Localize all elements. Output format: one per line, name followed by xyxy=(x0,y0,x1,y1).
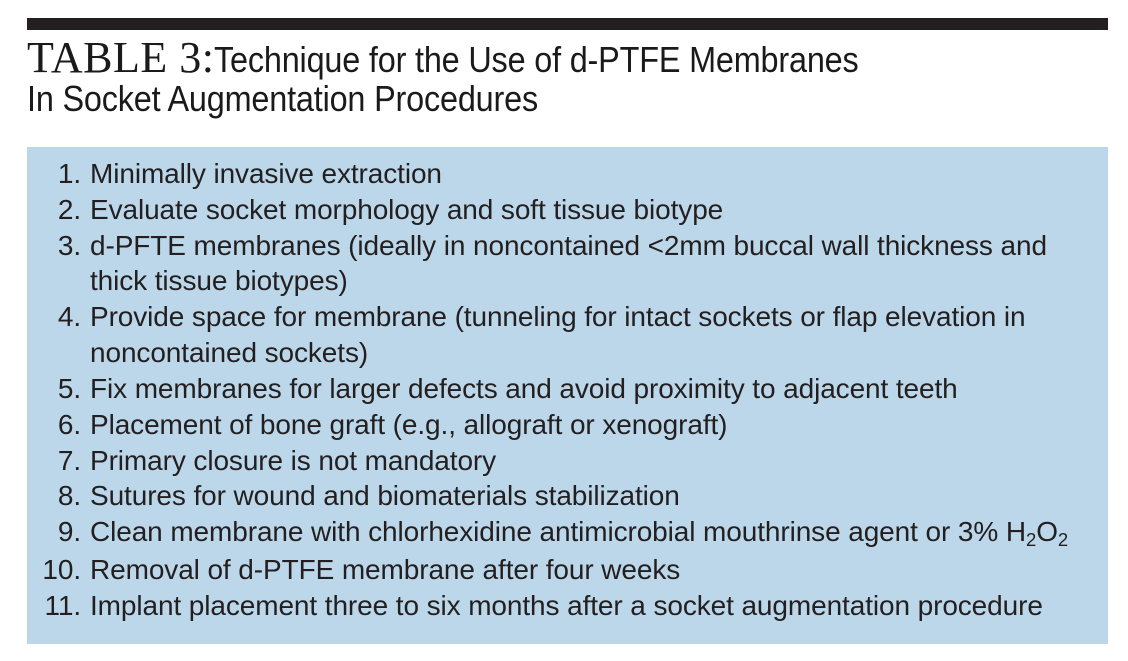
table-figure: TABLE 3:Technique for the Use of d-PTFE … xyxy=(0,0,1128,661)
list-item: 8.Sutures for wound and biomaterials sta… xyxy=(27,478,1108,514)
list-item-text: Placement of bone graft (e.g., allograft… xyxy=(90,407,1108,443)
list-item-text: Minimally invasive extraction xyxy=(90,156,1108,192)
procedure-list-panel: 1.Minimally invasive extraction2.Evaluat… xyxy=(27,147,1108,644)
list-item-text: Evaluate socket morphology and soft tiss… xyxy=(90,192,1108,228)
list-item-text: Fix membranes for larger defects and avo… xyxy=(90,371,1108,407)
list-item-number: 9. xyxy=(27,514,90,550)
table-title-text-line-2: In Socket Augmentation Procedures xyxy=(27,78,538,120)
table-title-line-2: In Socket Augmentation Procedures xyxy=(27,78,1112,120)
list-item: 1.Minimally invasive extraction xyxy=(27,156,1108,192)
table-title: TABLE 3:Technique for the Use of d-PTFE … xyxy=(27,33,1112,120)
list-item-number: 11. xyxy=(27,588,90,624)
list-item: 9.Clean membrane with chlorhexidine anti… xyxy=(27,514,1108,552)
list-item-number: 4. xyxy=(27,299,90,335)
list-item-text: d-PFTE membranes (ideally in noncontaine… xyxy=(90,228,1108,300)
list-item-text: Provide space for membrane (tunneling fo… xyxy=(90,299,1108,371)
subscript: 2 xyxy=(1058,529,1068,550)
procedure-list: 1.Minimally invasive extraction2.Evaluat… xyxy=(27,147,1108,624)
list-item: 5.Fix membranes for larger defects and a… xyxy=(27,371,1108,407)
table-number-label: TABLE 3: xyxy=(27,33,214,82)
list-item-text: Implant placement three to six months af… xyxy=(90,588,1108,624)
table-title-line-1: TABLE 3:Technique for the Use of d-PTFE … xyxy=(27,33,1112,82)
list-item: 6.Placement of bone graft (e.g., allogra… xyxy=(27,407,1108,443)
list-item: 4.Provide space for membrane (tunneling … xyxy=(27,299,1108,371)
list-item-number: 1. xyxy=(27,156,90,192)
list-item-number: 6. xyxy=(27,407,90,443)
list-item-text: Clean membrane with chlorhexidine antimi… xyxy=(90,514,1108,552)
list-item-text: Primary closure is not mandatory xyxy=(90,443,1108,479)
table-title-text-line-1: Technique for the Use of d-PTFE Membrane… xyxy=(214,39,859,81)
list-item-number: 2. xyxy=(27,192,90,228)
list-item: 7.Primary closure is not mandatory xyxy=(27,443,1108,479)
list-item: 10.Removal of d-PTFE membrane after four… xyxy=(27,552,1108,588)
list-item-number: 10. xyxy=(27,552,90,588)
list-item: 11.Implant placement three to six months… xyxy=(27,588,1108,624)
list-item: 3.d-PFTE membranes (ideally in noncontai… xyxy=(27,228,1108,300)
list-item-number: 5. xyxy=(27,371,90,407)
list-item-number: 8. xyxy=(27,478,90,514)
list-item-text: Removal of d-PTFE membrane after four we… xyxy=(90,552,1108,588)
list-item: 2.Evaluate socket morphology and soft ti… xyxy=(27,192,1108,228)
list-item-number: 3. xyxy=(27,228,90,264)
top-rule-divider xyxy=(27,18,1108,30)
subscript: 2 xyxy=(1026,529,1036,550)
list-item-number: 7. xyxy=(27,443,90,479)
list-item-text: Sutures for wound and biomaterials stabi… xyxy=(90,478,1108,514)
